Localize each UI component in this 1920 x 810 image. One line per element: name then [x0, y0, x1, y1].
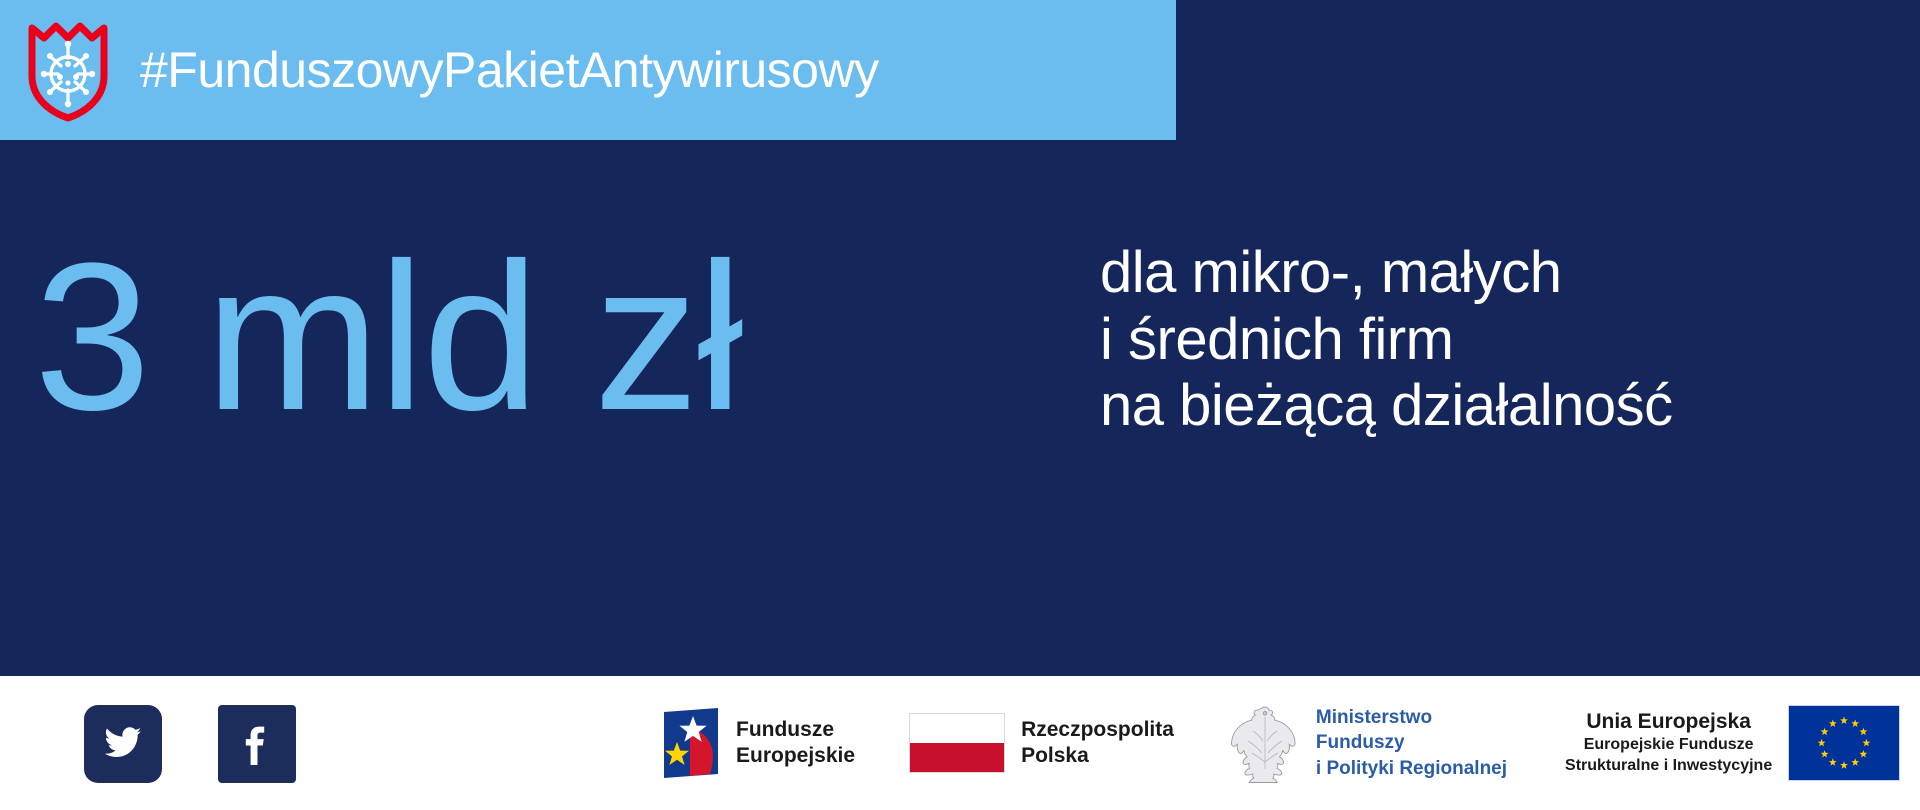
description-line-2: i średnich firm — [1100, 307, 1673, 374]
rp-line-2: Polska — [1021, 744, 1089, 767]
ue-line-2: Strukturalne i Inwestycyjne — [1565, 757, 1772, 774]
description-line-3: na bieżącą działalność — [1100, 373, 1673, 440]
ue-line-1: Europejskie Fundusze — [1584, 736, 1754, 753]
ue-title: Unia Europejska — [1586, 710, 1751, 733]
banner-root: #FunduszowyPakietAntywirusowy 3 mld zł d… — [0, 0, 1920, 810]
eu-flag-icon — [1788, 705, 1900, 781]
logo-rzeczpospolita-polska: Rzeczpospolita Polska — [909, 676, 1174, 810]
rp-line-1: Rzeczpospolita — [1021, 718, 1174, 741]
institutional-logos: Fundusze Europejskie Rzeczpospolita Pols… — [660, 676, 1900, 810]
flag-stripe-red — [910, 743, 1004, 772]
facebook-f-icon — [234, 719, 280, 770]
footer-bar: Fundusze Europejskie Rzeczpospolita Pols… — [0, 676, 1920, 810]
virus-shield-icon — [24, 18, 112, 122]
fe-line-2: Europejskie — [736, 744, 855, 767]
facebook-link[interactable] — [218, 705, 296, 783]
logo-fundusze-europejskie-text: Fundusze Europejskie — [736, 717, 855, 768]
header-band: #FunduszowyPakietAntywirusowy — [0, 0, 1176, 140]
campaign-hashtag: #FunduszowyPakietAntywirusowy — [140, 45, 879, 95]
description-block: dla mikro-, małych i średnich firm na bi… — [1100, 240, 1673, 440]
mf-line-1: Ministerstwo — [1316, 707, 1432, 728]
mf-line-3: i Polityki Regionalnej — [1316, 758, 1507, 779]
polish-eagle-icon — [1228, 701, 1302, 785]
poland-flag-icon — [909, 713, 1005, 773]
logo-unia-europejska: Unia Europejska Europejskie Fundusze Str… — [1565, 676, 1900, 810]
logo-unia-europejska-text: Unia Europejska Europejskie Fundusze Str… — [1565, 709, 1772, 777]
logo-ministerstwo-funduszy: Ministerstwo Funduszy i Polityki Regiona… — [1228, 676, 1507, 810]
logo-ministerstwo-text: Ministerstwo Funduszy i Polityki Regiona… — [1316, 705, 1507, 780]
twitter-link[interactable] — [84, 705, 162, 783]
twitter-bird-icon — [100, 719, 146, 770]
mf-line-2: Funduszy — [1316, 732, 1405, 753]
amount-headline: 3 mld zł — [34, 232, 742, 442]
logo-rzeczpospolita-text: Rzeczpospolita Polska — [1021, 717, 1174, 768]
fe-line-1: Fundusze — [736, 718, 834, 741]
main-content-area: 3 mld zł dla mikro-, małych i średnich f… — [0, 140, 1920, 676]
social-links — [84, 705, 296, 783]
logo-fundusze-europejskie: Fundusze Europejskie — [660, 676, 855, 810]
flag-stripe-white — [910, 714, 1004, 743]
description-line-1: dla mikro-, małych — [1100, 240, 1673, 307]
fundusze-europejskie-flag-icon — [660, 706, 722, 780]
